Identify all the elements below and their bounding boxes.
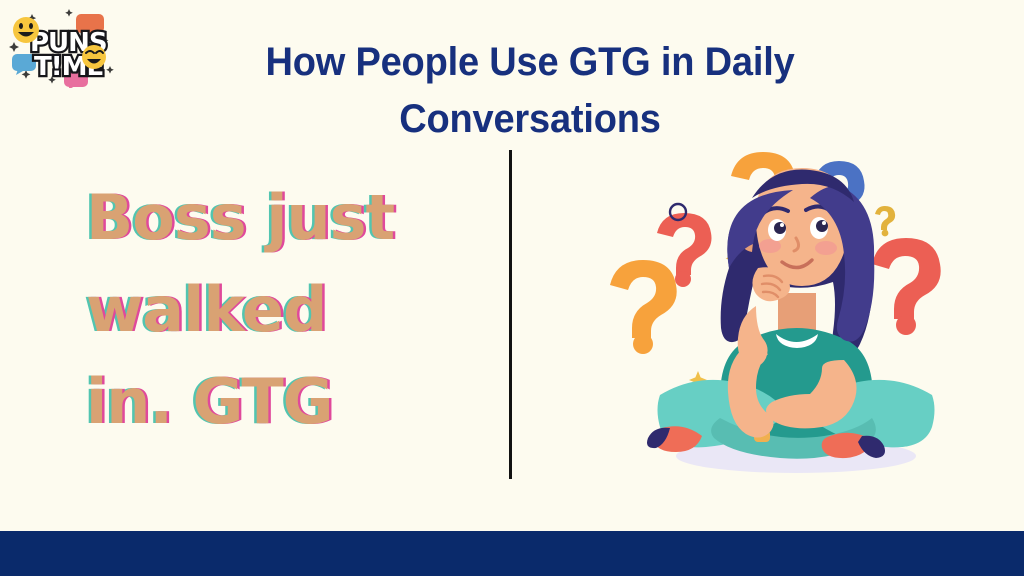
page-title: How People Use GTG in Daily Conversation… [169, 34, 891, 148]
qmark-orange-left-icon [610, 260, 677, 354]
cheek-left [759, 239, 781, 253]
illustration-artwork [600, 138, 990, 490]
eye-right [810, 217, 828, 239]
punchline-line-3: in. GTG [86, 356, 486, 448]
grinning-face-icon [13, 17, 39, 43]
thinking-woman-illustration [600, 138, 990, 490]
slide-canvas: PUNS T!ME How People Use GTG in Daily Co… [0, 0, 1024, 576]
bottom-bar [0, 531, 1024, 576]
puns-time-logo[interactable]: PUNS T!ME [8, 6, 120, 88]
qmark-gold-small-icon [875, 206, 895, 236]
punchline-line-1: Boss just [86, 172, 486, 264]
punchline-text: Boss just walked in. GTG [86, 172, 486, 448]
logo-artwork: PUNS T!ME [8, 6, 120, 88]
cheek-right [815, 241, 837, 255]
eye-left [768, 219, 786, 241]
laughing-face-icon [82, 45, 106, 69]
punchline-line-2: walked [86, 264, 486, 356]
page-title-line-1: How People Use GTG in Daily [169, 34, 891, 91]
vertical-divider [509, 150, 512, 479]
qmark-red-right-icon [872, 238, 941, 335]
